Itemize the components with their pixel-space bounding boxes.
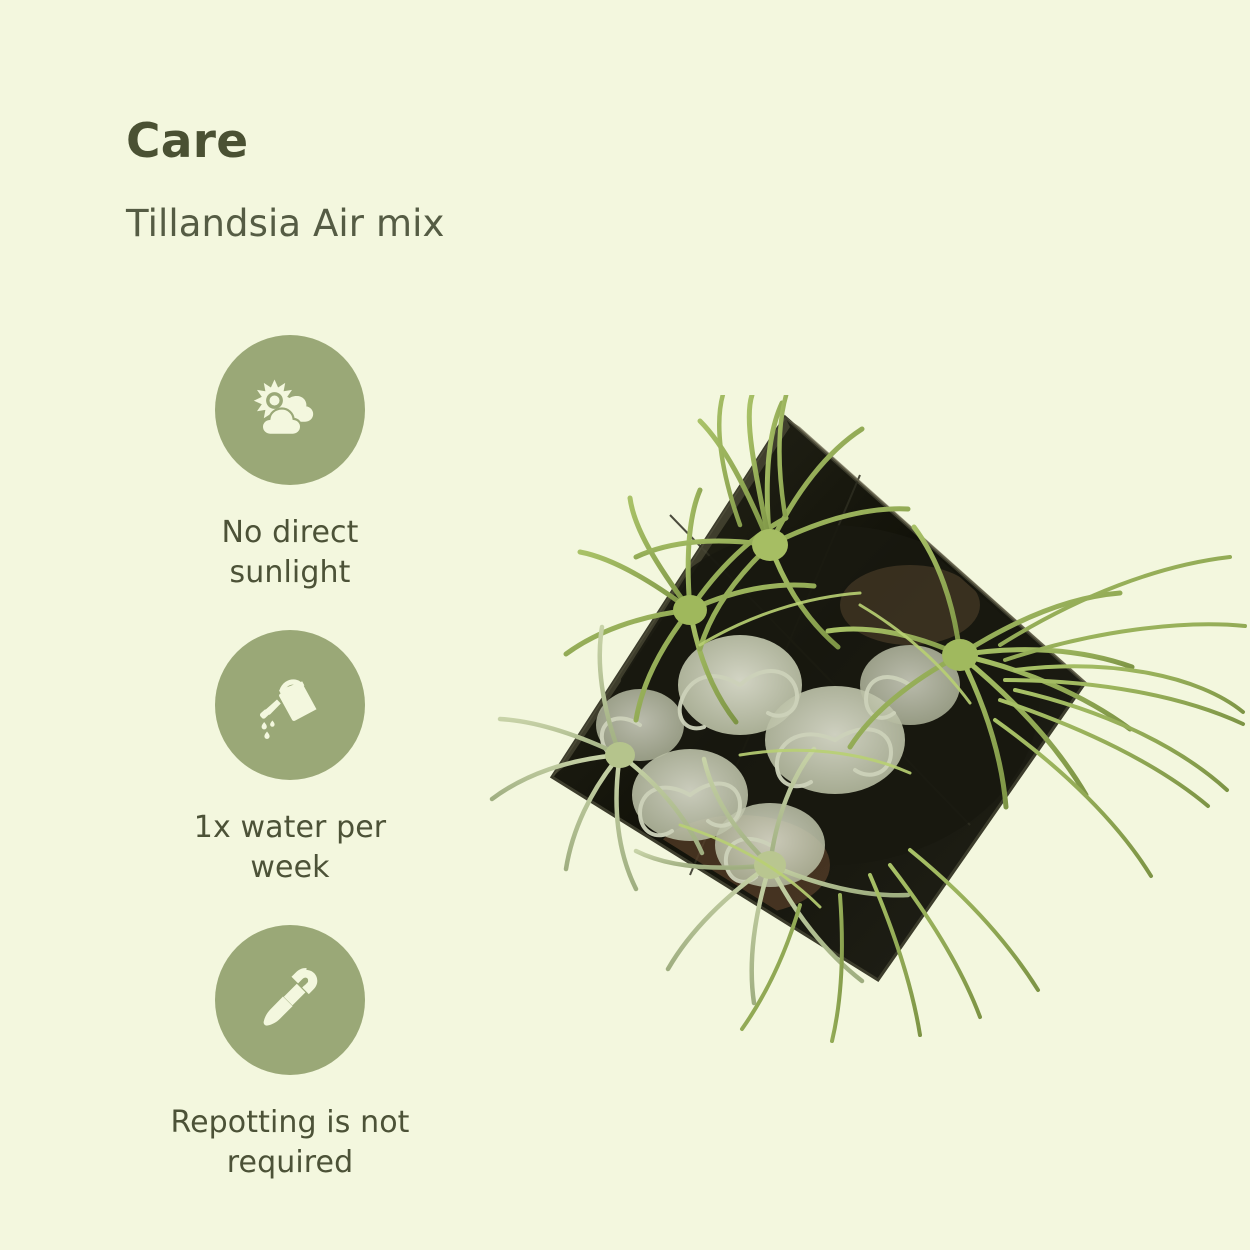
watering-can-icon xyxy=(250,665,330,745)
care-infographic-page: Care Tillandsia Air mix xyxy=(0,0,1250,1250)
care-icon-circle-sunlight xyxy=(215,335,365,485)
sun-behind-cloud-icon xyxy=(250,370,330,450)
page-subtitle: Tillandsia Air mix xyxy=(126,165,746,242)
product-photo xyxy=(440,395,1250,1085)
care-icon-circle-repotting xyxy=(215,925,365,1075)
header: Care Tillandsia Air mix xyxy=(126,118,746,242)
shovel-icon xyxy=(250,960,330,1040)
care-item-label-watering: 1x water per week xyxy=(110,808,470,888)
care-item-sunlight: No direct sunlight xyxy=(110,335,470,593)
care-item-repotting: Repotting is not required xyxy=(110,925,470,1183)
care-item-label-sunlight: No direct sunlight xyxy=(110,513,470,593)
page-title: Care xyxy=(126,118,746,165)
care-item-label-repotting: Repotting is not required xyxy=(110,1103,470,1183)
care-icon-circle-watering xyxy=(215,630,365,780)
care-item-watering: 1x water per week xyxy=(110,630,470,888)
